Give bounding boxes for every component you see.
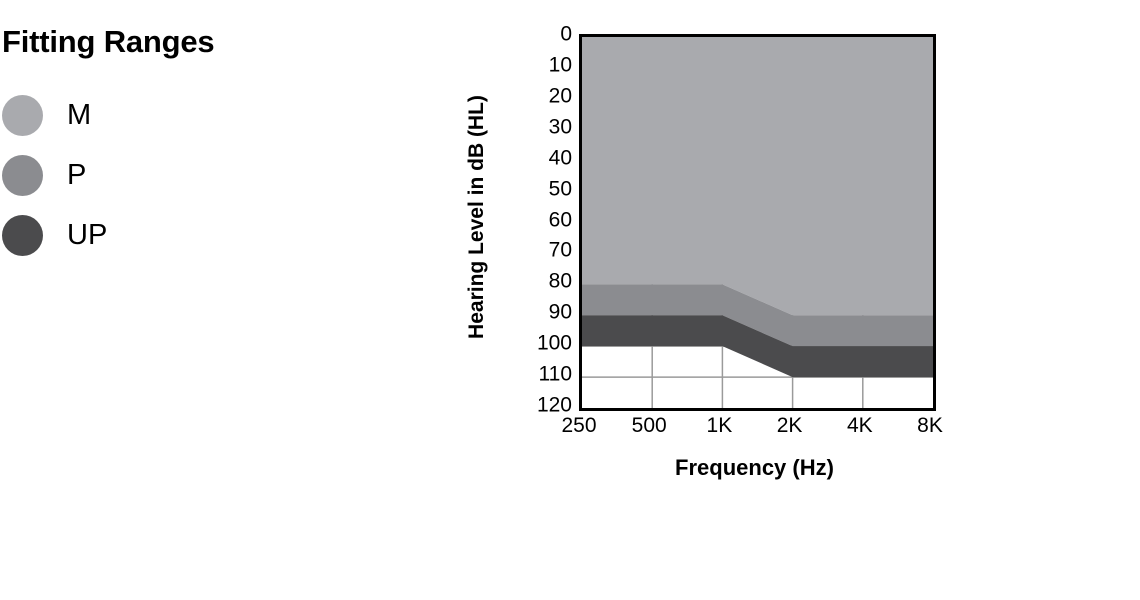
legend-item-label: P [67, 161, 86, 190]
legend-item-label: M [67, 101, 91, 130]
y-axis-title: Hearing Level in dB (HL) [465, 87, 489, 347]
x-tick-label: 8K [917, 415, 943, 436]
y-tick-label: 110 [500, 364, 572, 385]
legend-item-label: UP [67, 221, 107, 250]
y-tick-label: 30 [500, 116, 572, 137]
y-tick-label: 60 [500, 209, 572, 230]
area-band-m [582, 37, 933, 315]
y-tick-label: 20 [500, 85, 572, 106]
x-tick-label: 2K [777, 415, 803, 436]
y-tick-label: 120 [500, 395, 572, 416]
x-axis-title: Frequency (Hz) [579, 455, 930, 481]
circle-swatch-icon [2, 215, 43, 256]
y-tick-label: 50 [500, 178, 572, 199]
circle-swatch-icon [2, 155, 43, 196]
y-tick-label: 100 [500, 333, 572, 354]
y-tick-label: 0 [500, 24, 572, 45]
y-tick-label: 90 [500, 302, 572, 323]
y-tick-label: 40 [500, 147, 572, 168]
circle-swatch-icon [2, 95, 43, 136]
x-tick-label: 1K [707, 415, 733, 436]
x-axis-tick-labels: 2505001K2K4K8K [579, 415, 930, 445]
plot-svg [582, 37, 933, 408]
x-tick-label: 250 [561, 415, 596, 436]
y-tick-label: 10 [500, 54, 572, 75]
plot-area [579, 34, 936, 411]
fitting-range-chart: Hearing Level in dB (HL) 010203040506070… [440, 0, 1000, 500]
legend-item-p: P [0, 145, 330, 205]
legend-title: Fitting Ranges [2, 26, 330, 57]
legend-item-m: M [0, 85, 330, 145]
y-tick-label: 70 [500, 240, 572, 261]
legend-panel: Fitting Ranges M P UP [0, 26, 330, 265]
legend-item-up: UP [0, 205, 330, 265]
x-tick-label: 500 [632, 415, 667, 436]
x-tick-label: 4K [847, 415, 873, 436]
y-tick-label: 80 [500, 271, 572, 292]
